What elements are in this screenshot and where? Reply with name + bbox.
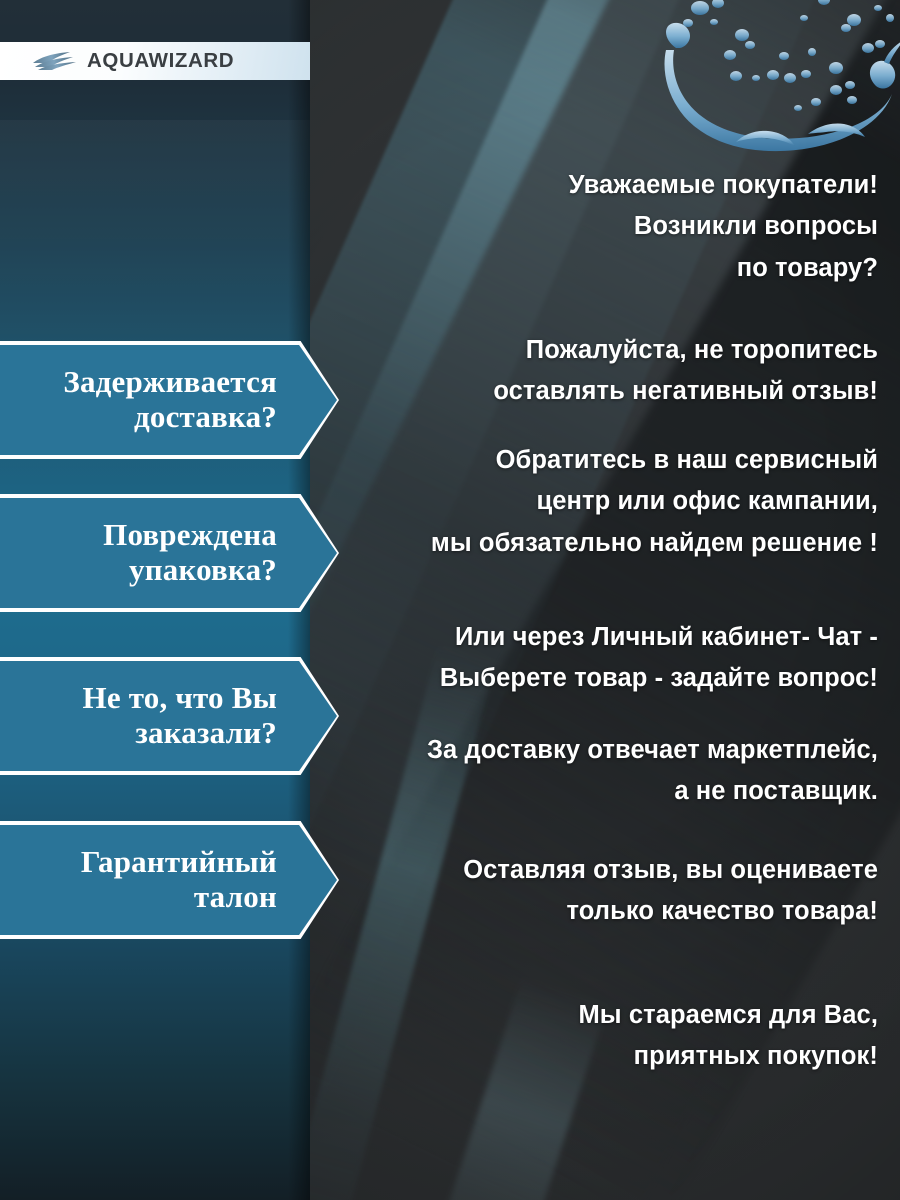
banner-wrong-item[interactable]: Не то, что Вы заказали? (0, 661, 337, 771)
brand-logo-bar: AQUAWIZARD (0, 42, 310, 80)
message-closing: Мы стараемся для Вас, приятных покупок! (318, 995, 878, 1078)
wave-swoosh-icon (32, 50, 78, 72)
message-delivery-note: За доставку отвечает маркетплейс, а не п… (318, 730, 878, 813)
message-no-rush-review: Пожалуйста, не торопитесь оставлять нега… (318, 330, 878, 413)
banner-label: Задерживается доставка? (10, 365, 277, 434)
banner-label: Гарантийный талон (10, 845, 277, 914)
banner-package-damaged[interactable]: Повреждена упаковка? (0, 498, 337, 608)
banner-label: Не то, что Вы заказали? (10, 681, 277, 750)
message-greeting: Уважаемые покупатели! Возникли вопросы п… (318, 165, 878, 289)
message-review-scope: Оставляя отзыв, вы оцениваете только кач… (318, 850, 878, 933)
message-chat-route: Или через Личный кабинет- Чат - Выберете… (318, 617, 878, 700)
banner-delivery-delayed[interactable]: Задерживается доставка? (0, 345, 337, 455)
banner-warranty-card[interactable]: Гарантийный талон (0, 825, 337, 935)
brand-name: AQUAWIZARD (87, 49, 234, 73)
poster-canvas: AQUAWIZARD Задерживается доставка? Повре… (0, 0, 900, 1200)
banner-label: Повреждена упаковка? (10, 518, 277, 587)
message-contact-service: Обратитесь в наш сервисный центр или офи… (318, 440, 878, 564)
